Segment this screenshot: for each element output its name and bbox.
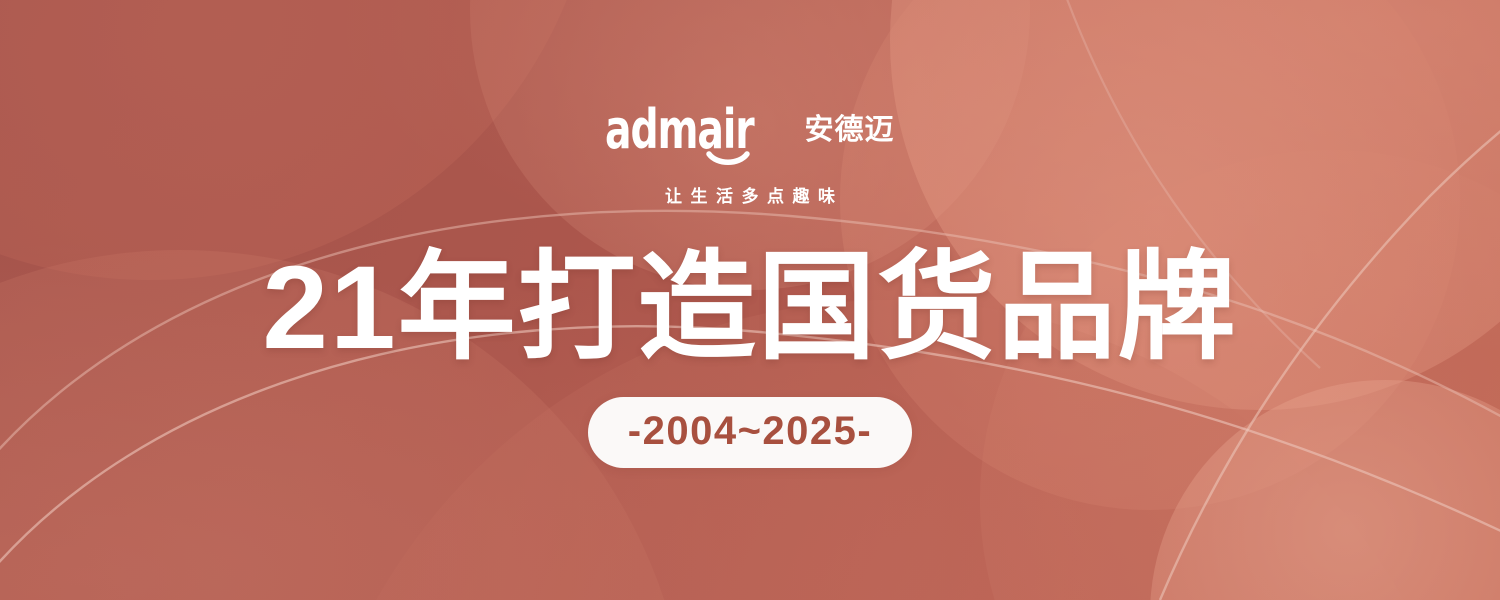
brand-name-cn: 安德迈 <box>804 116 894 145</box>
brand-anniversary-banner: admair 安德迈 让生活多点趣味 21年打造国货品牌 -2004~2025- <box>0 0 1500 600</box>
brand-logo: admair 安德迈 <box>605 104 894 166</box>
anniversary-year-badge: -2004~2025- <box>588 397 912 468</box>
brand-tagline: 让生活多点趣味 <box>657 188 844 205</box>
admair-smile-wordmark-icon: admair <box>605 104 791 166</box>
wordmark-text: admair <box>605 104 755 162</box>
page-title: 21年打造国货品牌 <box>262 249 1237 367</box>
banner-content: admair 安德迈 让生活多点趣味 21年打造国货品牌 -2004~2025- <box>0 0 1500 600</box>
